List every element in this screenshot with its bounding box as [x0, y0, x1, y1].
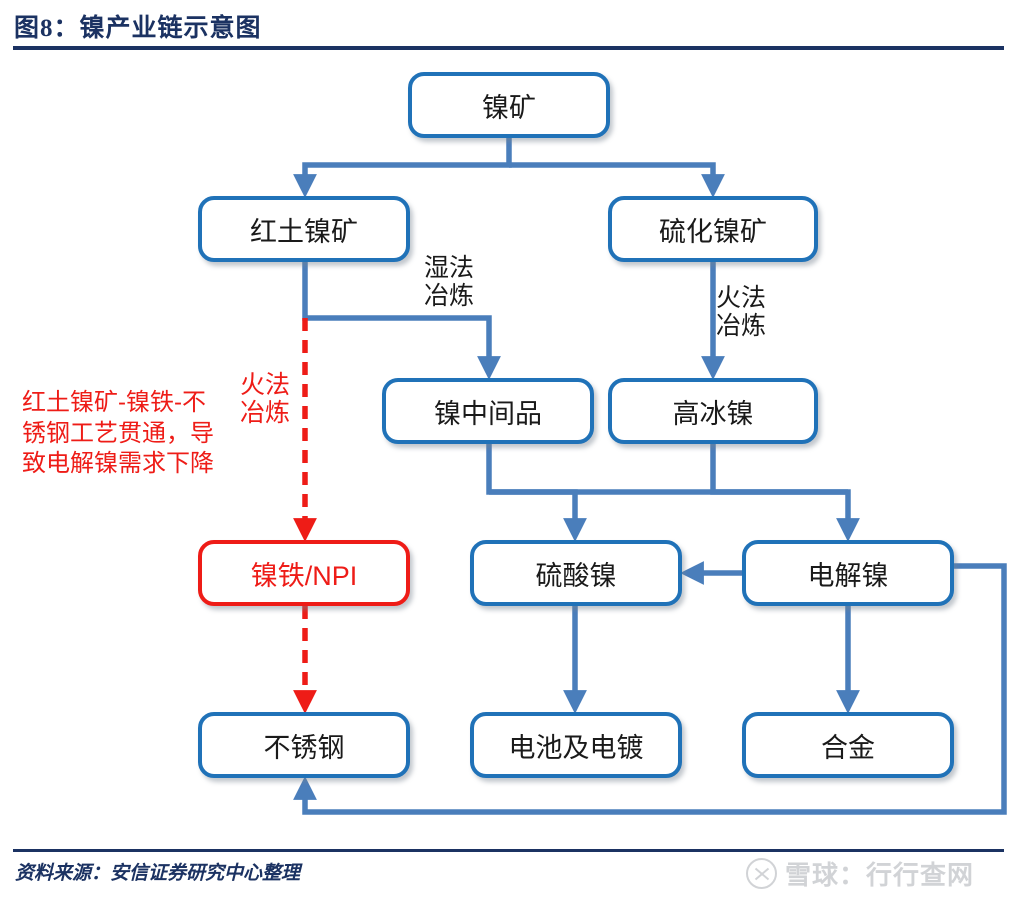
- edge-matte-bus: [713, 444, 848, 530]
- node-alloy[interactable]: 合金: [742, 712, 954, 778]
- edge-label-hydrometallurgy: 湿法 冶炼: [424, 254, 474, 310]
- figure-canvas: 图8：镍产业链示意图: [0, 0, 1017, 900]
- red-annotation-text: 红土镍矿-镍铁-不锈钢工艺贯通，导致电解镍需求下降: [22, 388, 222, 480]
- edge-ore-to-sulfide: [509, 165, 713, 186]
- edge-label-pyrometallurgy-right: 火法 冶炼: [716, 284, 766, 340]
- edge-label-pyrometallurgy-left-line2: 冶炼: [240, 399, 290, 427]
- node-nickel-intermediate[interactable]: 镍中间品: [382, 378, 594, 444]
- edge-label-pyrometallurgy-left-line1: 火法: [240, 371, 290, 399]
- edge-intermediate-bus: [489, 444, 575, 530]
- node-stainless-steel[interactable]: 不锈钢: [198, 712, 410, 778]
- node-laterite-ore[interactable]: 红土镍矿: [198, 196, 410, 262]
- node-nickel-matte[interactable]: 高冰镍: [608, 378, 818, 444]
- edge-label-pyrometallurgy-right-line2: 冶炼: [716, 312, 766, 340]
- edge-label-hydrometallurgy-line2: 冶炼: [424, 282, 474, 310]
- node-battery-plating[interactable]: 电池及电镀: [470, 712, 682, 778]
- figure-source: 资料来源：安信证券研究中心整理: [15, 858, 300, 885]
- source-divider: [13, 849, 1004, 852]
- node-npi[interactable]: 镍铁/NPI: [198, 540, 410, 606]
- edge-label-hydrometallurgy-line1: 湿法: [424, 254, 474, 282]
- node-sulfide-ore[interactable]: 硫化镍矿: [608, 196, 818, 262]
- edge-label-pyrometallurgy-right-line1: 火法: [716, 284, 766, 312]
- node-nickel-sulfate[interactable]: 硫酸镍: [470, 540, 682, 606]
- edge-label-pyrometallurgy-left: 火法 冶炼: [240, 371, 290, 427]
- node-nickel-ore[interactable]: 镍矿: [408, 72, 610, 138]
- edge-ore-to-laterite: [305, 138, 509, 186]
- node-electrolytic-nickel[interactable]: 电解镍: [742, 540, 954, 606]
